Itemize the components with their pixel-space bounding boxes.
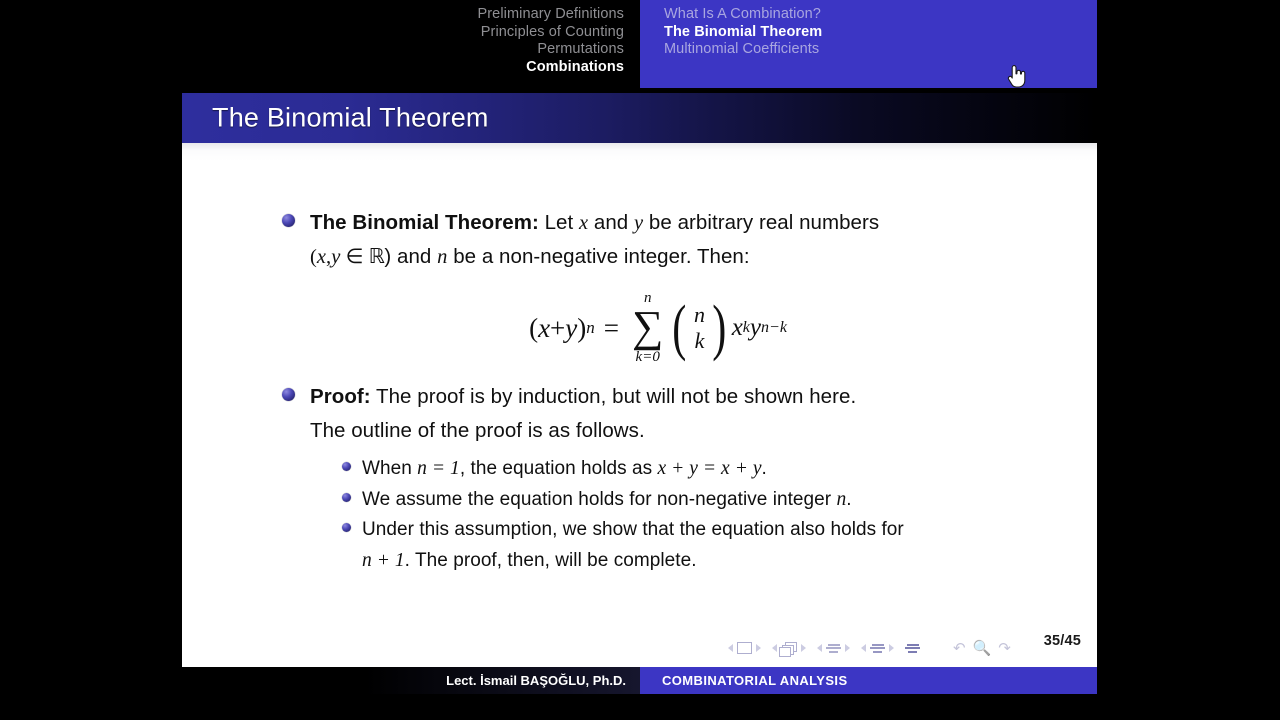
nav-section-principles-of-counting[interactable]: Principles of Counting — [182, 24, 624, 42]
proof-steps-list: When n = 1, the equation holds as x + y … — [278, 454, 1038, 576]
subsection-lines-icon[interactable] — [826, 644, 841, 653]
previous-frame-arrow-icon[interactable] — [772, 644, 777, 652]
proof-step-2-text: We assume the equation holds for non-neg… — [362, 485, 1038, 516]
theorem-element-of: ∈ — [340, 246, 368, 268]
proof-block: Proof: The proof is by induction, but wi… — [278, 380, 1038, 576]
theorem-label: The Binomial Theorem: — [310, 211, 539, 234]
formula-tail: xkyn−k — [732, 314, 787, 342]
subsection-nav-group[interactable] — [817, 644, 850, 653]
presentation-nav-group[interactable] — [905, 644, 920, 653]
magnifier-icon[interactable]: 🔍 — [973, 641, 992, 656]
frames-stack-icon[interactable] — [781, 642, 797, 655]
slide-content: The Binomial Theorem: Let x and y be arb… — [278, 206, 1038, 576]
step1-a: When — [362, 458, 417, 479]
sub-bullet-dot-icon — [342, 493, 351, 502]
next-slide-arrow-icon[interactable] — [756, 644, 761, 652]
redo-arrow-icon[interactable]: ↷ — [998, 641, 1011, 656]
binomial-top: n — [694, 302, 705, 328]
theorem-line1-a: Let — [539, 211, 579, 234]
list-item: Under this assumption, we show that the … — [336, 515, 1038, 576]
footer-course-area: COMBINATORIAL ANALYSIS — [640, 667, 1097, 694]
sigma-icon: ∑ — [632, 307, 663, 347]
binomial-bottom: k — [695, 328, 705, 354]
slide-title-bar: The Binomial Theorem — [182, 93, 1097, 143]
theorem-text: The Binomial Theorem: Let x and y be arb… — [310, 206, 1038, 274]
left-paren-icon: ( — [673, 309, 687, 347]
beamer-navigation-symbols[interactable]: ↶ 🔍 ↷ — [728, 637, 1088, 659]
previous-subsection-arrow-icon[interactable] — [817, 644, 822, 652]
step3-a: Under this assumption, we show that the … — [362, 519, 904, 540]
list-item: When n = 1, the equation holds as x + y … — [336, 454, 1038, 485]
step2-a: We assume the equation holds for non-neg… — [362, 489, 836, 510]
slide-nav-group[interactable] — [728, 642, 761, 654]
next-subsection-arrow-icon[interactable] — [845, 644, 850, 652]
theorem-paren-close: ) and — [384, 245, 437, 268]
beamer-headline: Preliminary Definitions Principles of Co… — [182, 0, 1097, 89]
formula-lhs-close: ) — [577, 313, 586, 344]
proof-text: Proof: The proof is by induction, but wi… — [310, 380, 1038, 448]
frame-nav-group[interactable] — [772, 642, 806, 655]
proof-line1: The proof is by induction, but will not … — [371, 385, 857, 408]
bullet-dot-icon — [282, 214, 295, 227]
previous-section-arrow-icon[interactable] — [861, 644, 866, 652]
sum-lower-limit: k=0 — [636, 350, 660, 365]
right-paren-icon: ) — [712, 309, 726, 347]
theorem-var-x: x — [579, 212, 588, 234]
step1-math-1: n = 1 — [417, 458, 460, 479]
formula-tail-y: y — [750, 314, 761, 342]
binomial-column: n k — [690, 302, 709, 354]
screen: Preliminary Definitions Principles of Co… — [0, 0, 1280, 720]
subsection-navigation: What Is A Combination? The Binomial Theo… — [640, 0, 1097, 88]
undo-arrow-icon[interactable]: ↶ — [953, 641, 966, 656]
proof-label: Proof: — [310, 385, 371, 408]
next-frame-arrow-icon[interactable] — [801, 644, 806, 652]
footer-author-area: Lect. İsmail BAŞOĞLU, Ph.D. — [182, 667, 640, 694]
theorem-line1-c: be arbitrary real numbers — [643, 211, 879, 234]
proof-line2: The outline of the proof is as follows. — [310, 419, 645, 442]
proof-step-3-text: Under this assumption, we show that the … — [362, 515, 1038, 576]
slide-icon[interactable] — [737, 642, 752, 654]
previous-slide-arrow-icon[interactable] — [728, 644, 733, 652]
formula-lhs-open: ( — [529, 313, 538, 344]
formula-lhs-plus: + — [550, 313, 565, 344]
theorem-line2-x: x — [317, 246, 326, 268]
theorem-block: The Binomial Theorem: Let x and y be arb… — [278, 206, 1038, 274]
footer-course-title: COMBINATORIAL ANALYSIS — [662, 673, 848, 688]
formula-tail-x-exponent: k — [743, 319, 750, 337]
doc-controls[interactable]: ↶ 🔍 ↷ — [953, 641, 1011, 656]
formula-lhs-exponent: n — [586, 318, 595, 338]
theorem-var-y: y — [634, 212, 643, 234]
formula-equals: = — [604, 313, 619, 344]
slide-canvas: The Binomial Theorem: Let x and y be arb… — [182, 143, 1097, 667]
list-item: We assume the equation holds for non-neg… — [336, 485, 1038, 516]
theorem-bullet-row: The Binomial Theorem: Let x and y be arb… — [278, 206, 1038, 274]
formula-lhs-y: y — [565, 313, 577, 344]
formula-lhs-x: x — [538, 313, 550, 344]
formula-lhs: (x+y)n — [529, 313, 595, 344]
formula-tail-y-exponent: n−k — [761, 319, 787, 337]
formula-tail-x: x — [732, 314, 743, 342]
nav-subsection-the-binomial-theorem[interactable]: The Binomial Theorem — [664, 24, 1097, 42]
footer-author: Lect. İsmail BAŞOĞLU, Ph.D. — [446, 673, 626, 688]
section-nav-group[interactable] — [861, 644, 894, 653]
step3-c: . The proof, then, will be complete. — [405, 550, 697, 571]
nav-section-preliminary-definitions[interactable]: Preliminary Definitions — [182, 6, 624, 24]
step1-b: , the equation holds as — [460, 458, 658, 479]
formula-binomial-coefficient: ( n k ) — [669, 302, 729, 354]
step1-math-2: x + y = x + y — [658, 458, 762, 479]
sub-bullet-dot-icon — [342, 462, 351, 471]
theorem-var-n: n — [437, 246, 447, 268]
step1-c: . — [762, 458, 767, 479]
proof-bullet-row: Proof: The proof is by induction, but wi… — [278, 380, 1038, 448]
page-number: 35/45 — [1044, 633, 1081, 649]
blackboard-R-icon — [369, 246, 385, 268]
nav-section-combinations[interactable]: Combinations — [182, 59, 624, 77]
proof-step-1-text: When n = 1, the equation holds as x + y … — [362, 454, 1038, 485]
next-section-arrow-icon[interactable] — [889, 644, 894, 652]
section-navigation: Preliminary Definitions Principles of Co… — [182, 6, 632, 76]
binomial-formula: (x+y)n = n ∑ k=0 ( n k ) xkyn−k — [278, 282, 1038, 374]
nav-subsection-what-is-a-combination[interactable]: What Is A Combination? — [664, 6, 1097, 24]
theorem-line2-tail: be a non-negative integer. Then: — [447, 245, 749, 268]
sub-bullet-dot-icon — [342, 523, 351, 532]
step2-b: . — [846, 489, 851, 510]
step2-math-1: n — [836, 489, 846, 510]
presentation-lines-icon[interactable] — [905, 644, 920, 653]
nav-section-permutations[interactable]: Permutations — [182, 41, 624, 59]
theorem-paren-open: ( — [310, 246, 317, 268]
formula-summation: n ∑ k=0 — [632, 291, 663, 364]
step3-math-2: n + 1 — [362, 550, 405, 571]
beamer-footline: Lect. İsmail BAŞOĞLU, Ph.D. COMBINATORIA… — [182, 667, 1097, 694]
theorem-line1-b: and — [588, 211, 634, 234]
section-lines-icon[interactable] — [870, 644, 885, 653]
bullet-dot-icon — [282, 388, 295, 401]
page-title: The Binomial Theorem — [212, 103, 489, 134]
nav-subsection-multinomial-coefficients[interactable]: Multinomial Coefficients — [664, 41, 1097, 59]
